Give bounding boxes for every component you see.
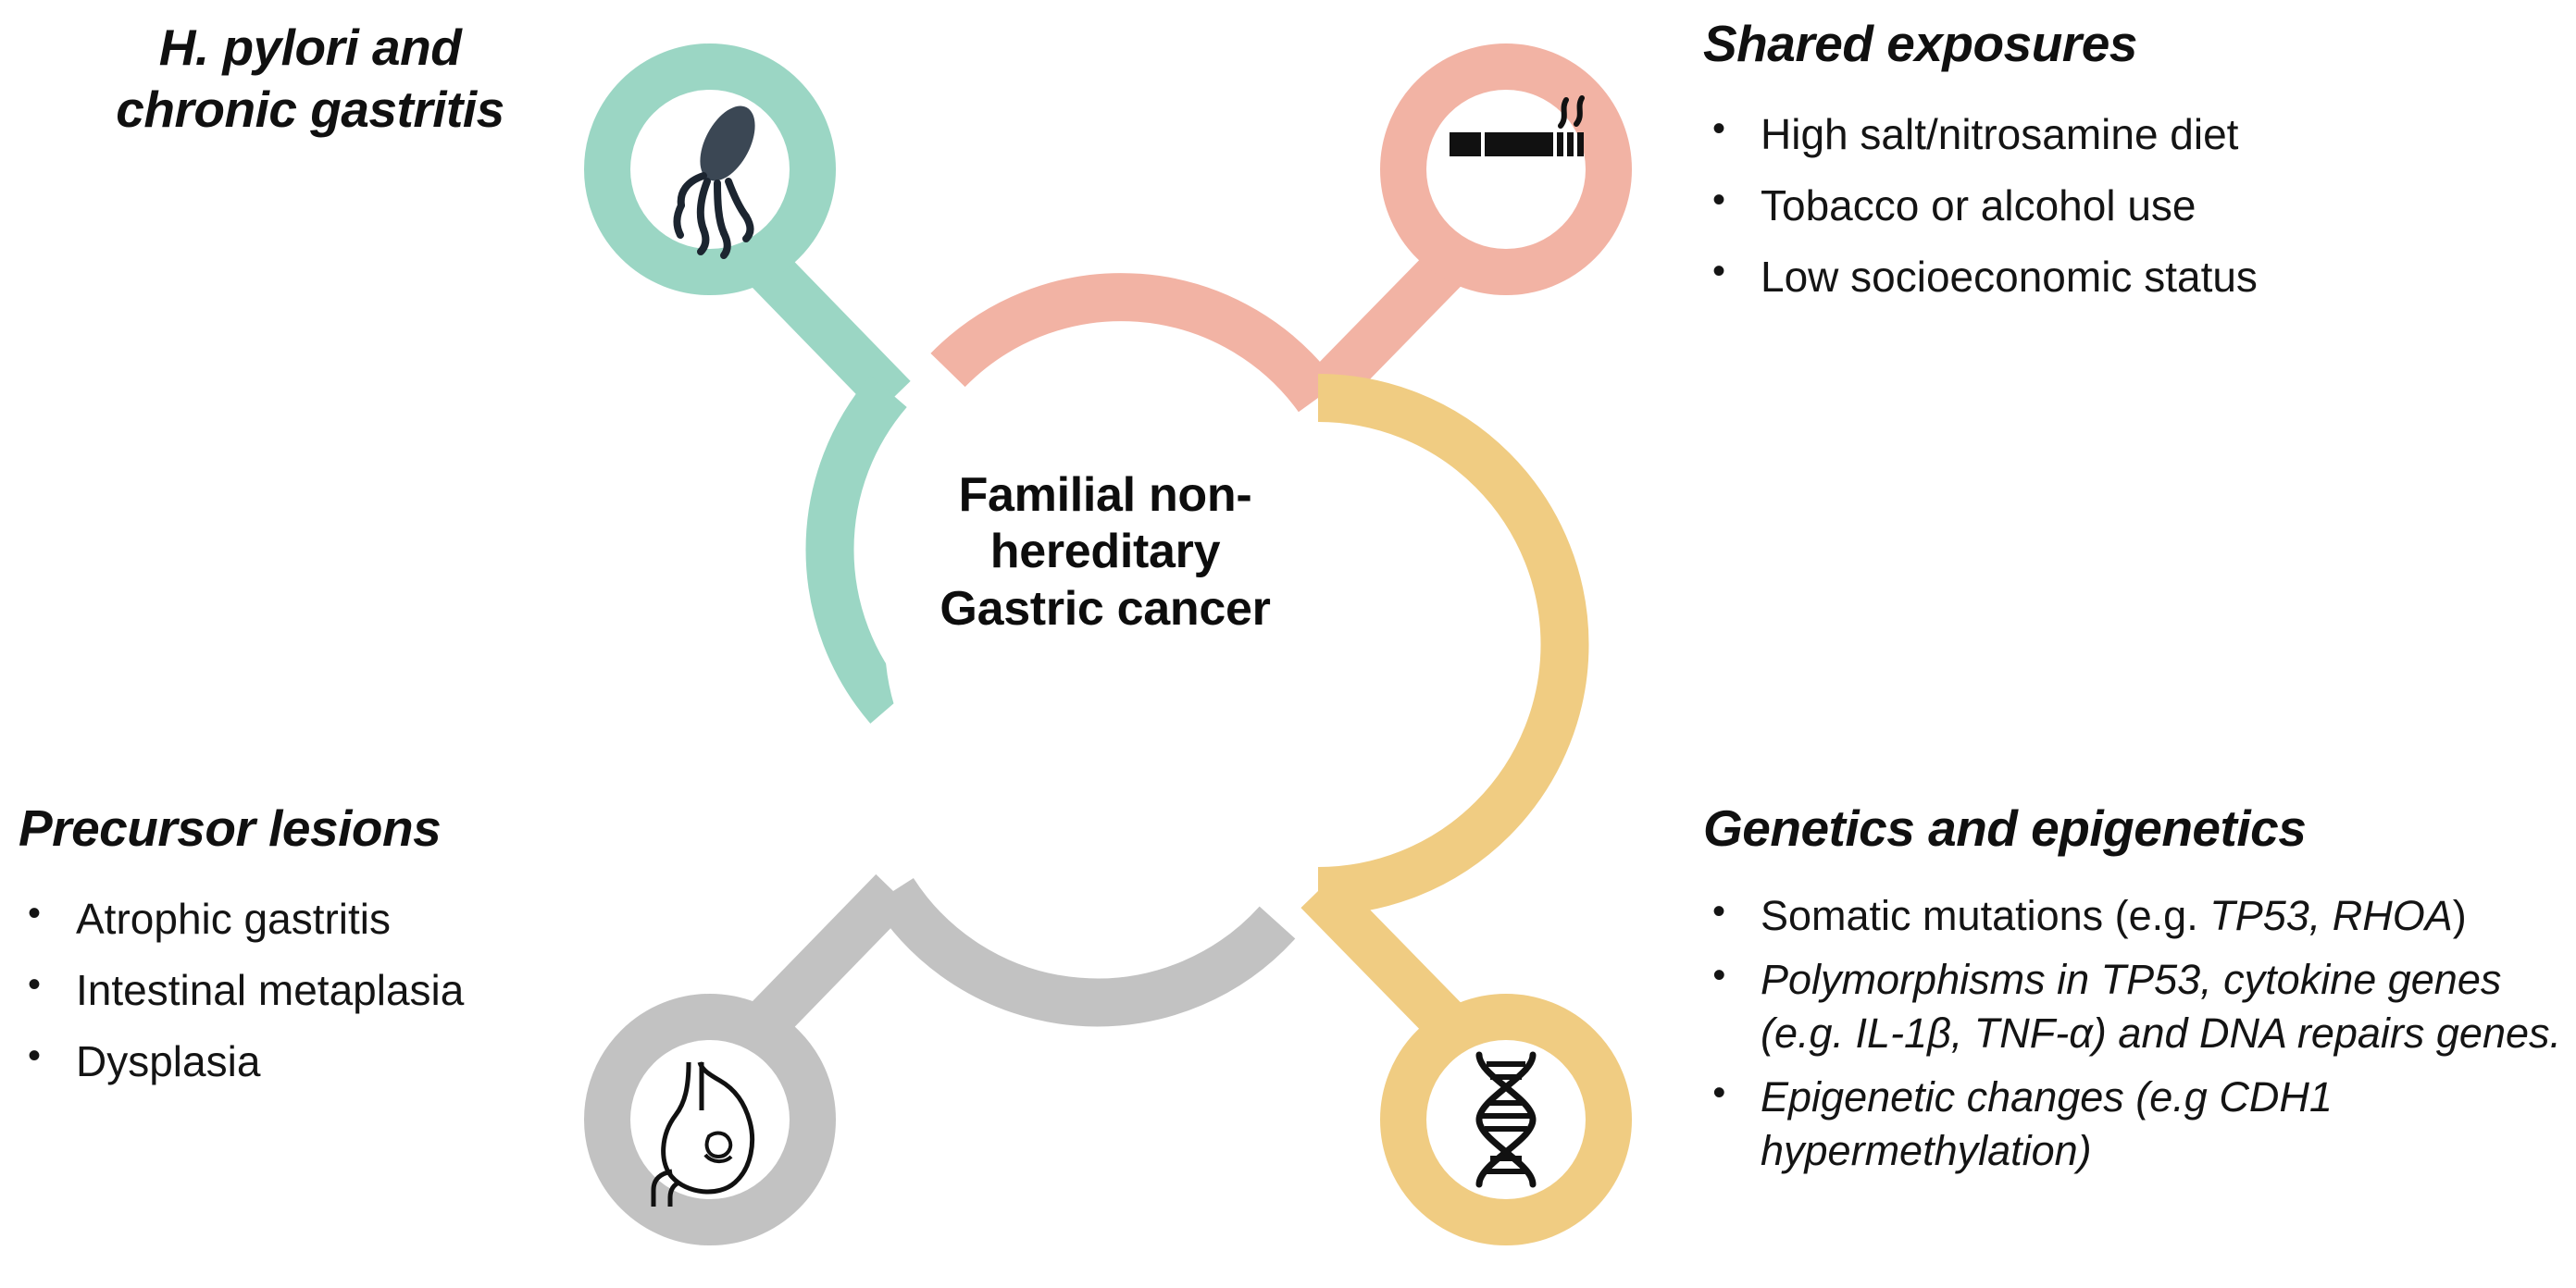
- shared-exposures-heading: Shared exposures: [1703, 13, 2564, 75]
- genetics-epigenetics-heading: Genetics and epigenetics: [1703, 798, 2573, 860]
- list-item: Low socioeconomic status: [1703, 249, 2564, 305]
- list-item: Epigenetic changes (e.g CDH1 hypermethyl…: [1703, 1071, 2573, 1179]
- precursor-ring-inner-fill: [630, 1040, 790, 1199]
- genetics-arc: [1318, 398, 1565, 891]
- hub-label: Familial non- hereditary Gastric cancer: [929, 467, 1281, 638]
- shared-exposures-bullet-list: High salt/nitrosamine diet Tobacco or al…: [1703, 106, 2564, 306]
- h-pylori-heading: H. pylori and chronic gastritis: [51, 17, 569, 141]
- genetics-epigenetics-bullet-list: Somatic mutations (e.g. TP53, RHOA) Poly…: [1703, 889, 2573, 1179]
- shared-exposures-arc: [948, 297, 1318, 398]
- list-item: Intestinal metaplasia: [19, 962, 574, 1019]
- h-pylori-text-block: H. pylori and chronic gastritis: [51, 17, 569, 141]
- list-item: Polymorphisms in TP53, cytokine genes (e…: [1703, 953, 2573, 1061]
- spoke-h-pylori[interactable]: [608, 68, 893, 708]
- precursor-lesions-heading: Precursor lesions: [19, 798, 574, 860]
- list-item: High salt/nitrosamine diet: [1703, 106, 2564, 163]
- spoke-precursor-lesions[interactable]: [608, 891, 1277, 1221]
- genetics-epigenetics-text-block: Genetics and epigenetics Somatic mutatio…: [1703, 798, 2573, 1188]
- precursor-arc: [893, 891, 1277, 1002]
- list-item: Somatic mutations (e.g. TP53, RHOA): [1703, 889, 2573, 944]
- spoke-genetics-epigenetics[interactable]: [1318, 398, 1608, 1221]
- list-item: Dysplasia: [19, 1034, 574, 1090]
- list-item: Atrophic gastritis: [19, 891, 574, 947]
- h-pylori-arc: [830, 391, 889, 708]
- shared-exposures-text-block: Shared exposures High salt/nitrosamine d…: [1703, 13, 2564, 321]
- list-item: Tobacco or alcohol use: [1703, 178, 2564, 234]
- precursor-lesions-text-block: Precursor lesions Atrophic gastritis Int…: [19, 798, 574, 1106]
- precursor-lesions-bullet-list: Atrophic gastritis Intestinal metaplasia…: [19, 891, 574, 1091]
- spoke-shared-exposures[interactable]: [948, 68, 1608, 398]
- diagram-canvas: Familial non- hereditary Gastric cancer …: [0, 0, 2576, 1288]
